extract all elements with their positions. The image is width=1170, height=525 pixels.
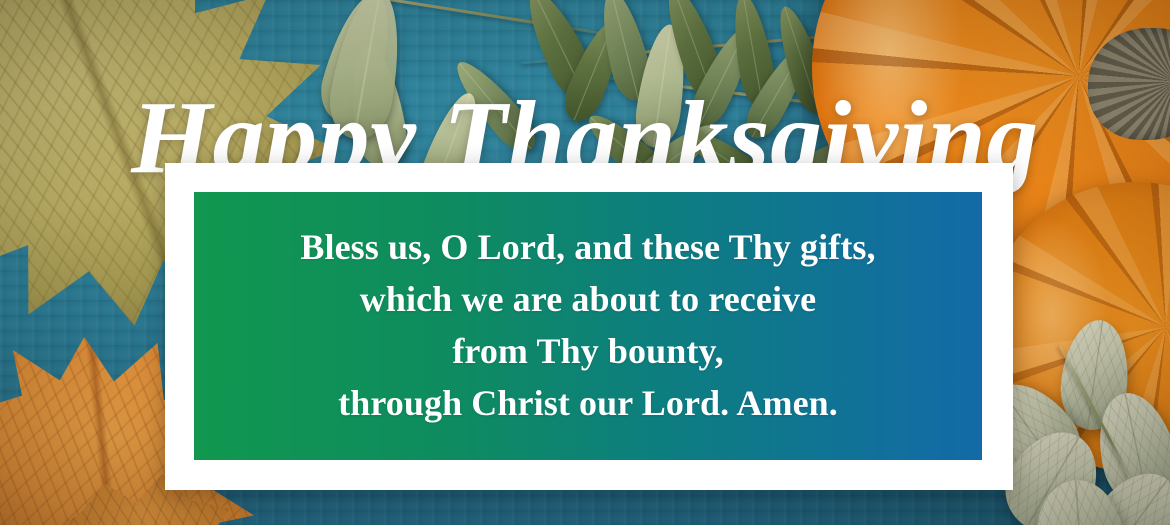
prayer-line: through Christ our Lord. Amen.	[300, 378, 875, 430]
prayer-card-panel: Bless us, O Lord, and these Thy gifts, w…	[194, 192, 982, 460]
prayer-line: from Thy bounty,	[300, 326, 875, 378]
thanksgiving-banner: Happy Thanksgiving Bless us, O Lord, and…	[0, 0, 1170, 525]
prayer-card-frame: Bless us, O Lord, and these Thy gifts, w…	[165, 163, 1013, 490]
prayer-line: Bless us, O Lord, and these Thy gifts,	[300, 222, 875, 274]
prayer-text: Bless us, O Lord, and these Thy gifts, w…	[286, 222, 889, 429]
prayer-line: which we are about to receive	[300, 274, 875, 326]
